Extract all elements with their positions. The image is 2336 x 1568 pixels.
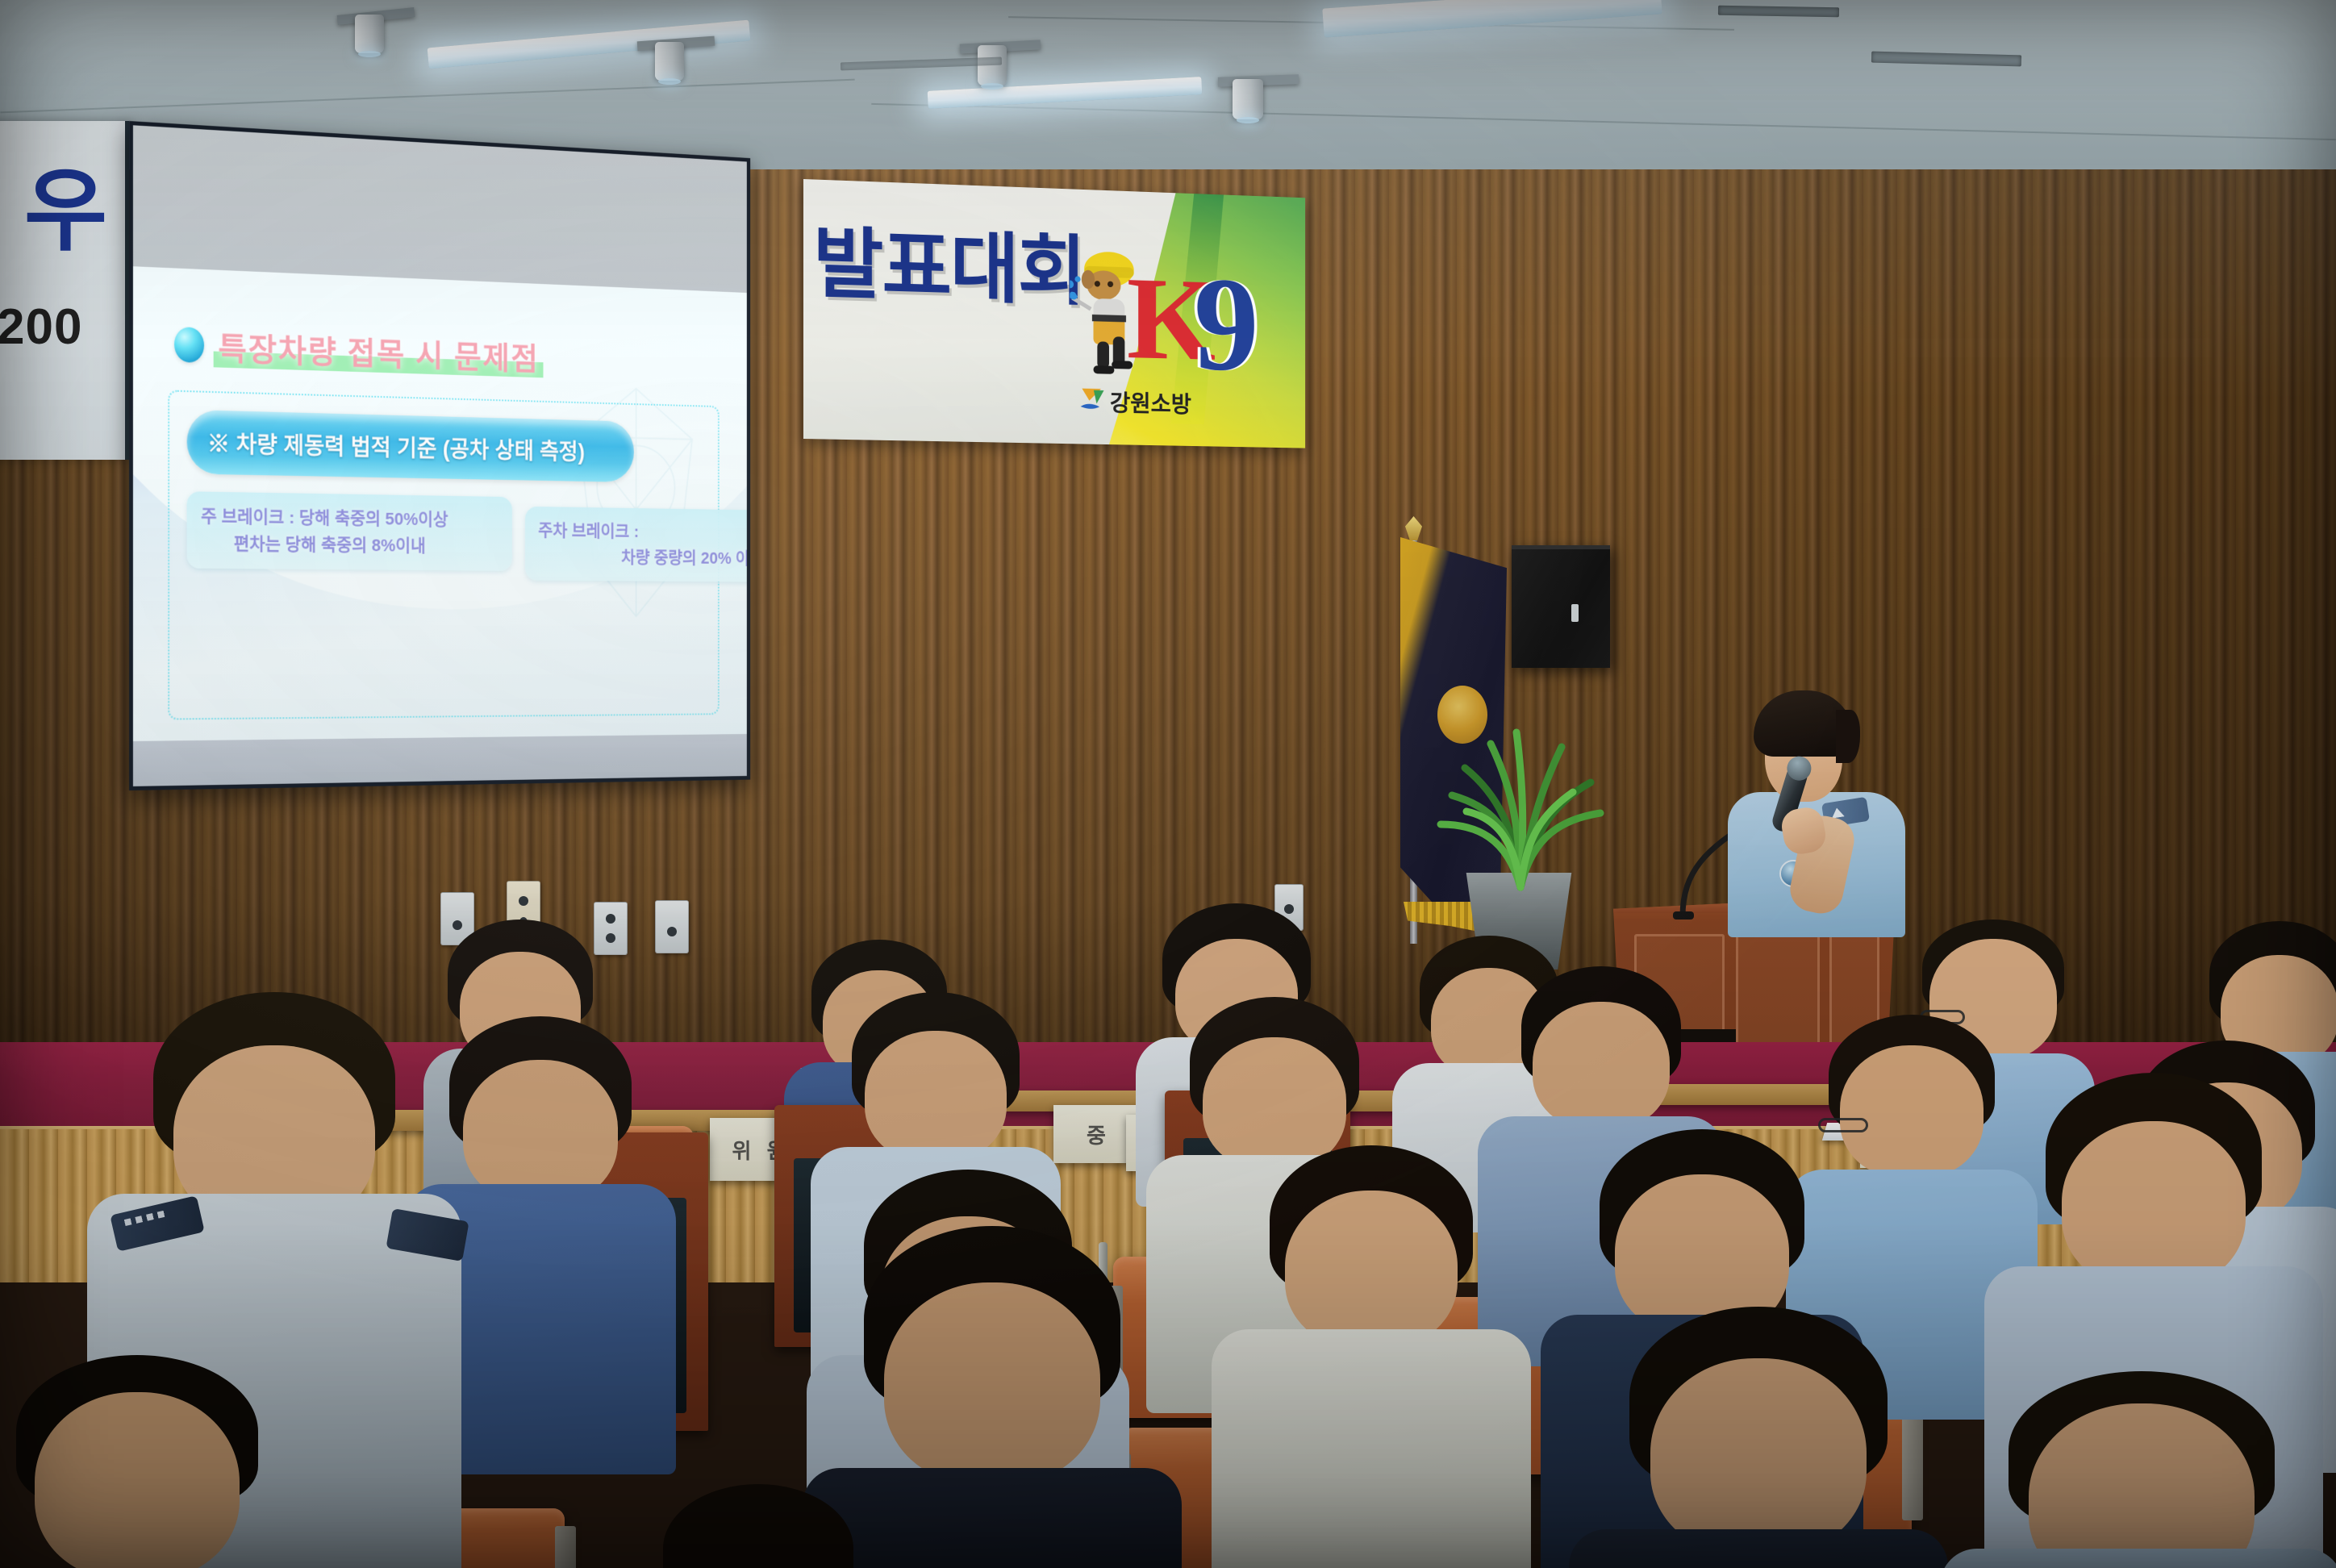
screen-surface: 특장차량 접목 시 문제점 ※ 차량 제동력 법적 기준 (공차 상태 측정) … bbox=[133, 125, 747, 786]
left-banner-year: 200 bbox=[0, 298, 82, 356]
person-head bbox=[1285, 1191, 1458, 1349]
seat-bracket bbox=[555, 1526, 576, 1568]
ceiling-vent bbox=[1871, 52, 2021, 67]
ceiling-seam bbox=[0, 79, 854, 114]
event-wall-banner: 발표대회 K 9 강원소방 bbox=[803, 179, 1305, 448]
left-banner-character: 우 bbox=[24, 166, 107, 256]
fact-line: 주 브레이크 : 당해 축중의 50%이상 bbox=[201, 503, 498, 534]
track-spotlight bbox=[1233, 79, 1263, 119]
logo-subtitle: 강원소방 bbox=[1110, 385, 1191, 419]
name-placard-text: 중 bbox=[1087, 1120, 1111, 1149]
person-head bbox=[463, 1060, 618, 1203]
potted-plant-leaves bbox=[1420, 694, 1621, 895]
foreground-attendee bbox=[0, 1355, 307, 1568]
gangwon-emblem-icon bbox=[1079, 386, 1108, 413]
person-head bbox=[1650, 1358, 1867, 1555]
fact-line: 차량 중량의 20% 이상 bbox=[538, 544, 747, 572]
audience-member bbox=[1226, 1145, 1516, 1565]
person-hair bbox=[663, 1484, 853, 1568]
track-spotlight bbox=[355, 15, 384, 53]
foreground-attendee bbox=[1952, 1371, 2331, 1568]
fact-line: 주차 브레이크 : bbox=[538, 517, 747, 546]
fact-line: 편차는 당해 축중의 8%이내 bbox=[201, 530, 498, 560]
slide-content-frame: ※ 차량 제동력 법적 기준 (공차 상태 측정) 주 브레이크 : 당해 축중… bbox=[168, 390, 720, 719]
person-torso bbox=[1940, 1549, 2336, 1568]
person-head bbox=[1840, 1045, 1984, 1178]
person-head bbox=[865, 1031, 1007, 1161]
presenter-speaking bbox=[1702, 678, 1944, 920]
slide-criteria-banner-text: ※ 차량 제동력 법적 기준 (공차 상태 측정) bbox=[207, 425, 585, 466]
person-head bbox=[2029, 1403, 2255, 1568]
ceiling-seam bbox=[871, 103, 2336, 140]
left-wall-banner: 우 200 bbox=[0, 121, 129, 460]
track-spotlight bbox=[655, 42, 684, 81]
wall-outlet bbox=[655, 900, 689, 953]
person-head bbox=[2062, 1121, 2246, 1289]
wall-mounted-speaker bbox=[1512, 545, 1610, 668]
fluorescent-tube-light bbox=[1322, 0, 1662, 38]
presenter-hair bbox=[1754, 690, 1854, 757]
person-torso bbox=[1569, 1529, 1948, 1568]
slide-criteria-banner: ※ 차량 제동력 법적 기준 (공차 상태 측정) bbox=[187, 410, 634, 482]
person-head bbox=[1533, 1002, 1670, 1129]
person-head bbox=[35, 1392, 240, 1568]
person-head bbox=[884, 1282, 1100, 1484]
ceiling-vent bbox=[1718, 6, 1839, 18]
speaker-brand-badge bbox=[1571, 604, 1579, 622]
blue-sphere-bullet-icon bbox=[174, 327, 204, 363]
event-banner-title: 발표대회 bbox=[813, 200, 1085, 319]
presentation-slide: 특장차량 접목 시 문제점 ※ 차량 제동력 법적 기준 (공차 상태 측정) … bbox=[133, 266, 747, 741]
person-torso bbox=[1212, 1329, 1531, 1568]
conference-hall-photo: 우 200 특장차량 접목 시 문제점 bbox=[0, 0, 2336, 1568]
logo-letter-9: 9 bbox=[1194, 256, 1259, 393]
slide-fact-box-parking-brake: 주차 브레이크 : 차량 중량의 20% 이상 bbox=[525, 507, 747, 582]
projection-screen: 특장차량 접목 시 문제점 ※ 차량 제동력 법적 기준 (공차 상태 측정) … bbox=[129, 121, 750, 790]
screen-blank-area-bottom bbox=[133, 734, 747, 786]
foreground-attendee bbox=[1581, 1307, 1936, 1568]
slide-fact-box-service-brake: 주 브레이크 : 당해 축중의 50%이상 편차는 당해 축중의 8%이내 bbox=[187, 491, 512, 571]
foreground-attendee bbox=[637, 1484, 879, 1568]
fluorescent-tube-light bbox=[928, 77, 1203, 109]
